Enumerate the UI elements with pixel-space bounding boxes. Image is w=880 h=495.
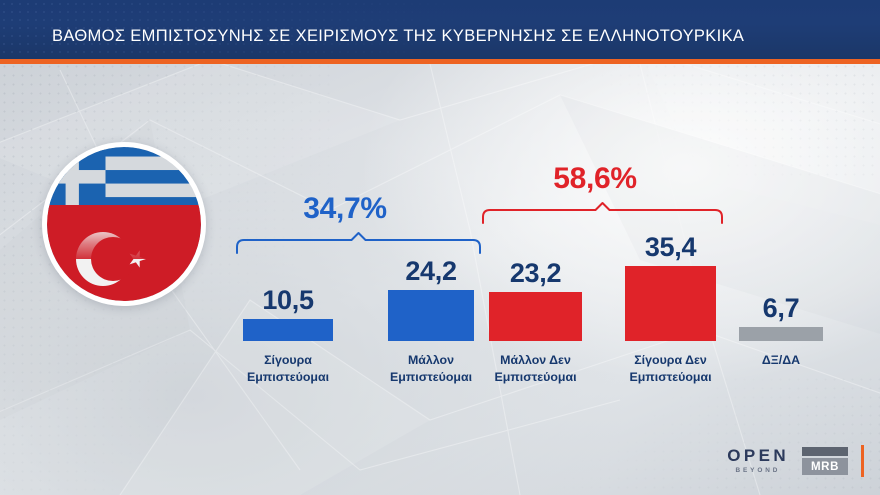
group-total-distrust: 58,6%: [485, 162, 705, 196]
flag-blend-overlay: [47, 225, 201, 259]
bar-value-label: 24,2: [388, 256, 474, 287]
bar-value-label: 10,5: [243, 285, 333, 316]
bar-rect[interactable]: [625, 266, 716, 341]
bar-category-label: Μάλλον Εμπιστεύομαι: [381, 352, 481, 385]
poll-graphic: ΒΑΘΜΟΣ ΕΜΠΙΣΤΟΣΥΝΗΣ ΣΕ ΧΕΙΡΙΣΜΟΥΣ ΤΗΣ ΚΥ…: [0, 0, 880, 495]
bar-column: 35,4Σίγουρα Δεν Εμπιστεύομαι: [625, 0, 716, 495]
bar-rect[interactable]: [739, 327, 823, 341]
bar-column: 6,7ΔΞ/ΔΑ: [739, 0, 823, 495]
beyond-logo-text: BEYOND: [733, 468, 781, 474]
bar-column: 23,2Μάλλον Δεν Εμπιστεύομαι: [489, 0, 582, 495]
group-total-trust: 34,7%: [240, 192, 450, 226]
broadcaster-logos: OPEN BEYOND MRB: [724, 445, 864, 477]
bar-value-label: 6,7: [739, 293, 823, 324]
greece-turkey-flag-badge: [42, 142, 206, 306]
background-dot-texture-bottom-right: [560, 375, 880, 495]
flag-badge-inner: [47, 147, 201, 301]
bar-value-label: 23,2: [489, 258, 582, 289]
open-beyond-logo: OPEN BEYOND: [724, 447, 789, 474]
bar-value-label: 35,4: [625, 232, 716, 263]
bar-category-label: ΔΞ/ΔΑ: [732, 352, 829, 369]
mrb-logo-bar: [802, 447, 848, 456]
bar-rect[interactable]: [388, 290, 474, 341]
bar-rect[interactable]: [243, 319, 333, 341]
bar-rect[interactable]: [489, 292, 582, 341]
bar-category-label: Μάλλον Δεν Εμπιστεύομαι: [482, 352, 590, 385]
bar-column: 10,5Σίγουρα Εμπιστεύομαι: [243, 0, 333, 495]
bar-category-label: Σίγουρα Εμπιστεύομαι: [236, 352, 340, 385]
mrb-logo: MRB: [802, 447, 848, 475]
open-logo-text: OPEN: [724, 447, 789, 464]
bar-category-label: Σίγουρα Δεν Εμπιστεύομαι: [618, 352, 724, 385]
mrb-logo-text: MRB: [802, 458, 848, 475]
bar-column: 24,2Μάλλον Εμπιστεύομαι: [388, 0, 474, 495]
logo-accent-bar: [861, 445, 864, 477]
